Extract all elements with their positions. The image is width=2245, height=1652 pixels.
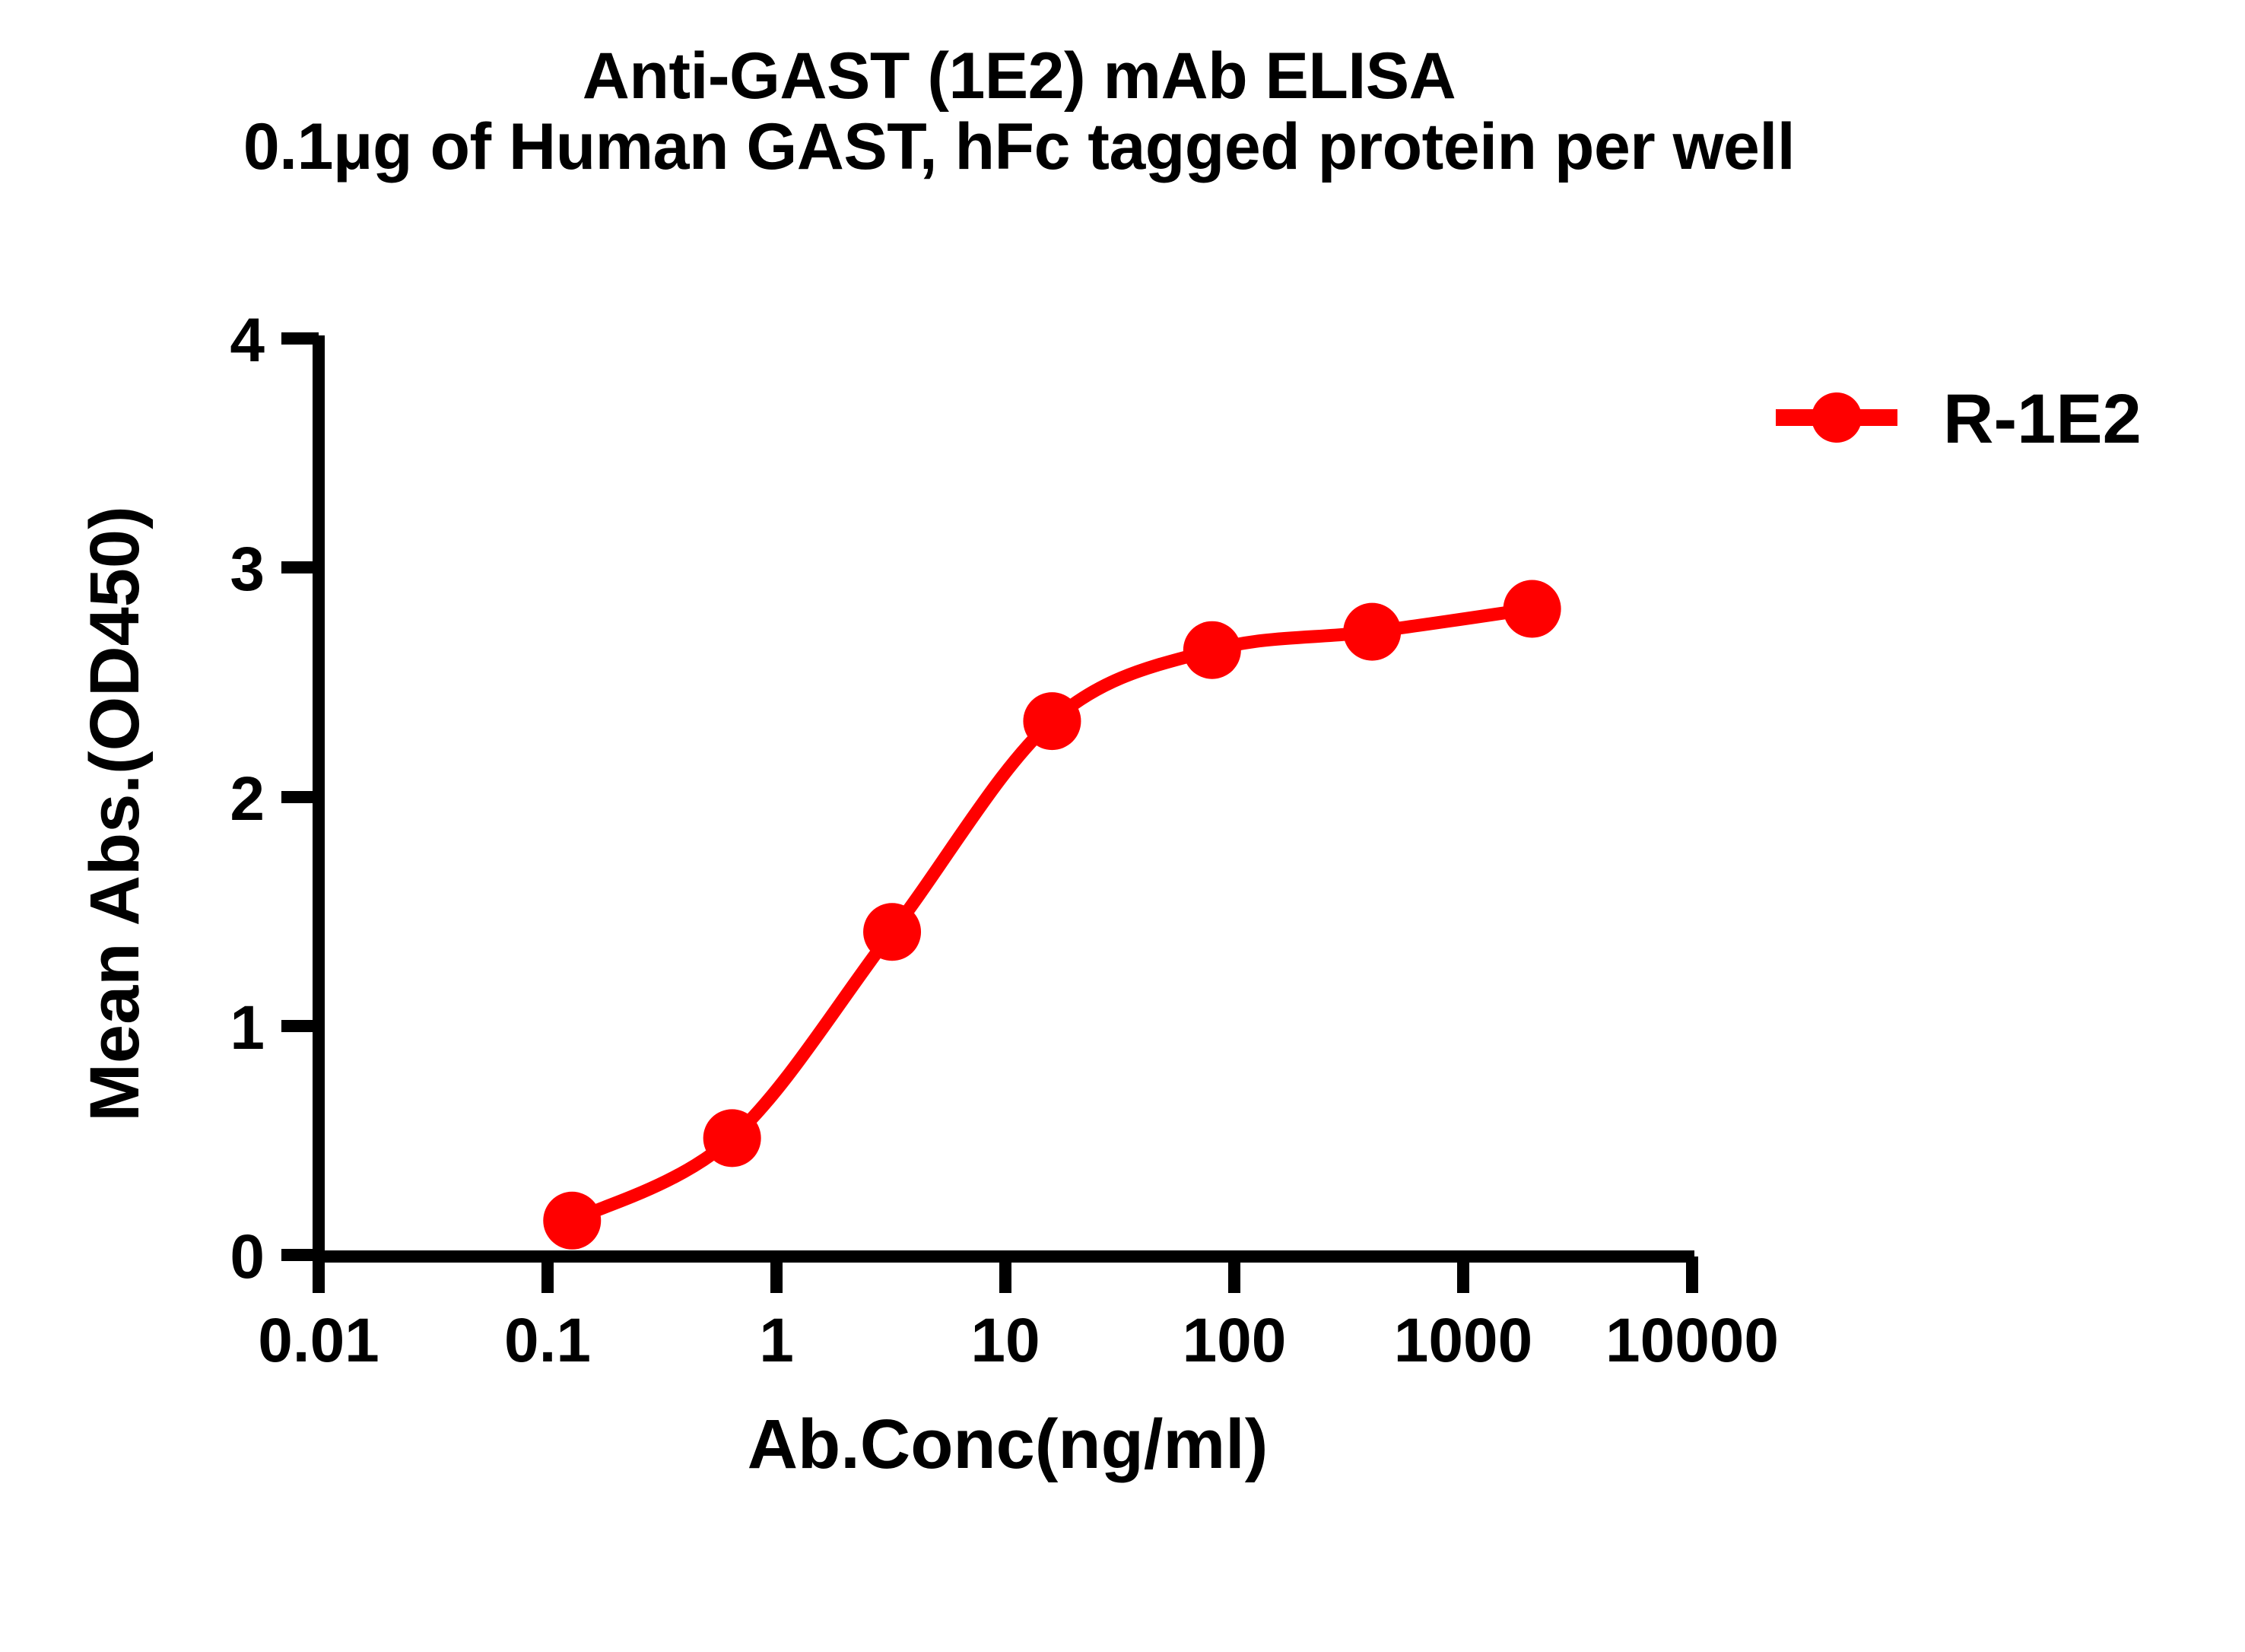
x-tick-label: 1: [759, 1306, 794, 1375]
x-tick-label: 0.01: [258, 1306, 379, 1375]
y-tick-label: 3: [230, 535, 265, 604]
data-point: [1343, 603, 1401, 661]
y-axis-tick-labels: 0 1 2 3 4: [230, 306, 265, 1291]
data-point: [703, 1109, 761, 1167]
x-tick-label: 10: [970, 1306, 1040, 1375]
x-axis-title: Ab.Conc(ng/ml): [748, 1406, 1269, 1483]
data-point: [863, 903, 921, 961]
y-tick-label: 0: [230, 1222, 265, 1291]
data-point: [543, 1192, 601, 1250]
data-point: [1023, 692, 1081, 750]
legend: R-1E2: [1776, 380, 2142, 458]
legend-item-label: R-1E2: [1943, 380, 2142, 458]
y-axis-title: Mean Abs.(OD450): [76, 506, 154, 1121]
y-tick-label: 1: [230, 993, 265, 1063]
x-tick-label: 100: [1183, 1306, 1287, 1375]
legend-marker-icon: [1812, 392, 1862, 443]
data-point: [1183, 621, 1241, 679]
x-tick-label: 1000: [1394, 1306, 1532, 1375]
x-axis-tick-labels: 0.01 0.1 1 10 100 1000 10000: [258, 1306, 1779, 1375]
x-tick-label: 10000: [1605, 1306, 1779, 1375]
plot-area: Mean Abs.(OD450) 0 1 2 3 4: [0, 0, 2245, 1652]
x-tick-label: 0.1: [504, 1306, 591, 1375]
y-tick-label: 4: [230, 306, 265, 375]
chart-figure: Anti-GAST (1E2) mAb ELISA 0.1μg of Human…: [0, 0, 2245, 1652]
y-tick-label: 2: [230, 764, 265, 834]
data-series-r-1e2: [543, 580, 1561, 1249]
data-point: [1504, 580, 1561, 637]
series-markers: [543, 580, 1561, 1249]
